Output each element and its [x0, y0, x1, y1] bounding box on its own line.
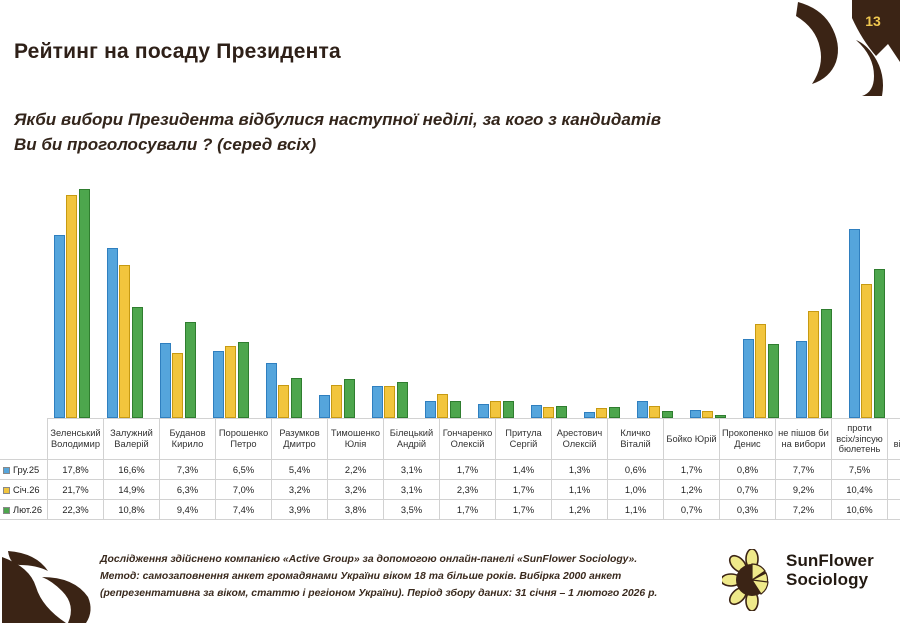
- table-cell-value: 1,7%: [496, 500, 552, 520]
- bar-Гру.25: [531, 405, 542, 418]
- table-cell-value: 1,7%: [664, 460, 720, 480]
- bar-group: [45, 178, 98, 418]
- table-cell-value: 1,3%: [552, 460, 608, 480]
- table-cell-value: 0,3%: [720, 500, 776, 520]
- bar-Лют.26: [503, 401, 514, 418]
- survey-question-line-2: Ви би проголосували ? (серед всіх): [14, 133, 804, 158]
- legend-label: Лют.26: [13, 505, 42, 515]
- bar-Січ.26: [437, 394, 448, 418]
- bar-Січ.26: [755, 324, 766, 418]
- table-cell-value: 3,8%: [328, 500, 384, 520]
- table-cell-value: 10,6%: [832, 500, 888, 520]
- legend-entry-Лют.26: Лют.26: [0, 500, 48, 520]
- logo-line-1: SunFlower: [786, 551, 874, 570]
- table-cell-value: 6,3%: [160, 480, 216, 500]
- bar-group: [575, 178, 628, 418]
- bar-Гру.25: [213, 351, 224, 418]
- page-number-badge: 13: [860, 10, 886, 32]
- bar-group: [257, 178, 310, 418]
- table-cell-value: 3,2%: [328, 480, 384, 500]
- bar-Лют.26: [609, 407, 620, 418]
- table-cell-value: 13,1%: [888, 480, 900, 500]
- methodology-line-1: Дослідження здійснено компанією «Active …: [100, 552, 710, 569]
- table-cell-value: 1,2%: [552, 500, 608, 520]
- bar-Лют.26: [132, 307, 143, 418]
- table-cell-value: 1,2%: [664, 480, 720, 500]
- bar-Січ.26: [649, 406, 660, 418]
- table-cell-value: 0,8%: [720, 460, 776, 480]
- bar-Лют.26: [821, 309, 832, 418]
- table-body: Гру.2517,8%16,6%7,3%6,5%5,4%2,2%3,1%1,7%…: [0, 460, 900, 520]
- table-column-header: ТимошенкоЮлія: [328, 419, 384, 460]
- table-cell-value: 1,7%: [440, 460, 496, 480]
- bar-Лют.26: [291, 378, 302, 418]
- methodology-line-3: (репрезентативна за віком, статтю і регі…: [100, 586, 710, 603]
- table-cell-value: 9,4%: [160, 500, 216, 520]
- bar-Січ.26: [66, 195, 77, 418]
- bar-Лют.26: [662, 411, 673, 418]
- bar-group: [204, 178, 257, 418]
- bar-Січ.26: [702, 411, 713, 418]
- table-row: Гру.2517,8%16,6%7,3%6,5%5,4%2,2%3,1%1,7%…: [0, 460, 900, 480]
- bar-Лют.26: [397, 382, 408, 418]
- bar-Січ.26: [331, 385, 342, 418]
- table-cell-value: 3,1%: [384, 460, 440, 480]
- bar-Гру.25: [54, 235, 65, 418]
- table-cell-value: 0,6%: [608, 460, 664, 480]
- table-cell-value: 16,6%: [104, 460, 160, 480]
- table-column-header: не пішов бина вибори: [776, 419, 832, 460]
- logo-line-2: Sociology: [786, 570, 874, 589]
- bar-Гру.25: [743, 339, 754, 418]
- data-table-container: ЗеленськийВолодимирЗалужнийВалерійБудано…: [0, 418, 893, 520]
- bar-group: [151, 178, 204, 418]
- table-column-header: ЗеленськийВолодимир: [48, 419, 104, 460]
- bar-group: [522, 178, 575, 418]
- bar-Гру.25: [849, 229, 860, 418]
- table-cell-value: 9,2%: [776, 480, 832, 500]
- survey-question: Якби вибори Президента відбулися наступн…: [14, 108, 804, 157]
- bar-Січ.26: [384, 386, 395, 418]
- legend-swatch-icon: [3, 507, 10, 514]
- table-cell-value: 1,7%: [440, 500, 496, 520]
- table-column-header: РазумковДмитро: [272, 419, 328, 460]
- bar-group: [840, 178, 893, 418]
- table-cell-value: 0,7%: [720, 480, 776, 500]
- bar-Гру.25: [637, 401, 648, 418]
- page-title: Рейтинг на посаду Президента: [14, 40, 341, 64]
- table-cell-value: 7,5%: [832, 460, 888, 480]
- bar-Гру.25: [319, 395, 330, 418]
- table-cell-value: 7,0%: [216, 480, 272, 500]
- table-cell-value: 22,3%: [48, 500, 104, 520]
- legend-entry-Гру.25: Гру.25: [0, 460, 48, 480]
- table-cell-value: 0,7%: [664, 500, 720, 520]
- bar-chart: [44, 178, 887, 418]
- table-row: Січ.2621,7%14,9%6,3%7,0%3,2%3,2%3,1%2,3%…: [0, 480, 900, 500]
- bar-Лют.26: [185, 322, 196, 418]
- bar-Січ.26: [861, 284, 872, 418]
- methodology-note: Дослідження здійснено компанією «Active …: [100, 552, 710, 603]
- table-header-row: ЗеленськийВолодимирЗалужнийВалерійБудано…: [0, 419, 900, 460]
- bar-Січ.26: [225, 346, 236, 418]
- table-cell-value: 10,8%: [104, 500, 160, 520]
- bar-group: [98, 178, 151, 418]
- bar-Січ.26: [596, 408, 607, 418]
- legend-label: Гру.25: [13, 465, 39, 475]
- table-column-header: БудановКирило: [160, 419, 216, 460]
- table-cell-value: 2,2%: [328, 460, 384, 480]
- table-cell-value: 18,4%: [888, 460, 900, 480]
- table-cell-value: 14,9%: [104, 480, 160, 500]
- bar-Гру.25: [160, 343, 171, 418]
- table-cell-value: 3,2%: [272, 480, 328, 500]
- table-column-header: БілецькийАндрій: [384, 419, 440, 460]
- bar-group: [310, 178, 363, 418]
- bar-Січ.26: [490, 401, 501, 418]
- table-cell-value: 3,5%: [384, 500, 440, 520]
- table-column-header: АрестовичОлексій: [552, 419, 608, 460]
- table-column-header: Бойко Юрій: [664, 419, 720, 460]
- bar-Січ.26: [172, 353, 183, 418]
- table-cell-value: 10,4%: [832, 480, 888, 500]
- table-cell-value: 17,8%: [48, 460, 104, 480]
- table-cell-value: 2,3%: [440, 480, 496, 500]
- table-cell-value: 7,3%: [160, 460, 216, 480]
- table-cell-value: 6,5%: [216, 460, 272, 480]
- legend-entry-Січ.26: Січ.26: [0, 480, 48, 500]
- bar-Гру.25: [690, 410, 701, 418]
- bar-group: [787, 178, 840, 418]
- bar-Лют.26: [344, 379, 355, 418]
- bar-Лют.26: [79, 189, 90, 418]
- table-column-header: ПрокопенкоДенис: [720, 419, 776, 460]
- survey-question-line-1: Якби вибори Президента відбулися наступн…: [14, 108, 804, 133]
- bar-Гру.25: [107, 248, 118, 418]
- table-column-header: ПритулаСергій: [496, 419, 552, 460]
- bar-Січ.26: [119, 265, 130, 418]
- bar-Січ.26: [543, 407, 554, 418]
- bar-Лют.26: [238, 342, 249, 418]
- table-column-header: противсіх/зіпсуюбюлетень: [832, 419, 888, 460]
- legend-label: Січ.26: [13, 485, 40, 495]
- table-cell-value: 14,5%: [888, 500, 900, 520]
- table-column-header: КличкоВіталій: [608, 419, 664, 460]
- bar-group: [469, 178, 522, 418]
- table-cell-value: 1,0%: [608, 480, 664, 500]
- bar-group: [681, 178, 734, 418]
- bar-Лют.26: [768, 344, 779, 418]
- bar-Гру.25: [425, 401, 436, 418]
- table-cell-value: 21,7%: [48, 480, 104, 500]
- bar-Гру.25: [478, 404, 489, 418]
- bar-Гру.25: [796, 341, 807, 418]
- legend-swatch-icon: [3, 467, 10, 474]
- bar-Гру.25: [372, 386, 383, 418]
- table-column-header: ПорошенкоПетро: [216, 419, 272, 460]
- footer-decoration: [2, 543, 94, 623]
- table-column-header: ЗалужнийВалерій: [104, 419, 160, 460]
- bar-Гру.25: [266, 363, 277, 418]
- table-corner-cell: [0, 419, 48, 460]
- data-table: ЗеленськийВолодимирЗалужнийВалерійБудано…: [0, 418, 900, 520]
- bar-group: [416, 178, 469, 418]
- logo-wordmark: SunFlower Sociology: [786, 551, 874, 589]
- table-column-header: важковідповісти: [888, 419, 900, 460]
- table-cell-value: 1,7%: [496, 480, 552, 500]
- table-cell-value: 1,1%: [552, 480, 608, 500]
- bar-Лют.26: [556, 406, 567, 418]
- bar-Січ.26: [278, 385, 289, 418]
- bar-Лют.26: [450, 401, 461, 418]
- table-cell-value: 7,7%: [776, 460, 832, 480]
- methodology-line-2: Метод: самозаповнення анкет громадянами …: [100, 569, 710, 586]
- table-row: Лют.2622,3%10,8%9,4%7,4%3,9%3,8%3,5%1,7%…: [0, 500, 900, 520]
- table-column-header: ГончаренкоОлексій: [440, 419, 496, 460]
- bar-Січ.26: [808, 311, 819, 418]
- bar-Лют.26: [874, 269, 885, 418]
- table-cell-value: 3,9%: [272, 500, 328, 520]
- table-cell-value: 7,2%: [776, 500, 832, 520]
- legend-swatch-icon: [3, 487, 10, 494]
- table-cell-value: 1,1%: [608, 500, 664, 520]
- table-cell-value: 1,4%: [496, 460, 552, 480]
- table-cell-value: 5,4%: [272, 460, 328, 480]
- bar-group: [628, 178, 681, 418]
- table-cell-value: 7,4%: [216, 500, 272, 520]
- bar-group: [734, 178, 787, 418]
- bar-group: [363, 178, 416, 418]
- table-cell-value: 3,1%: [384, 480, 440, 500]
